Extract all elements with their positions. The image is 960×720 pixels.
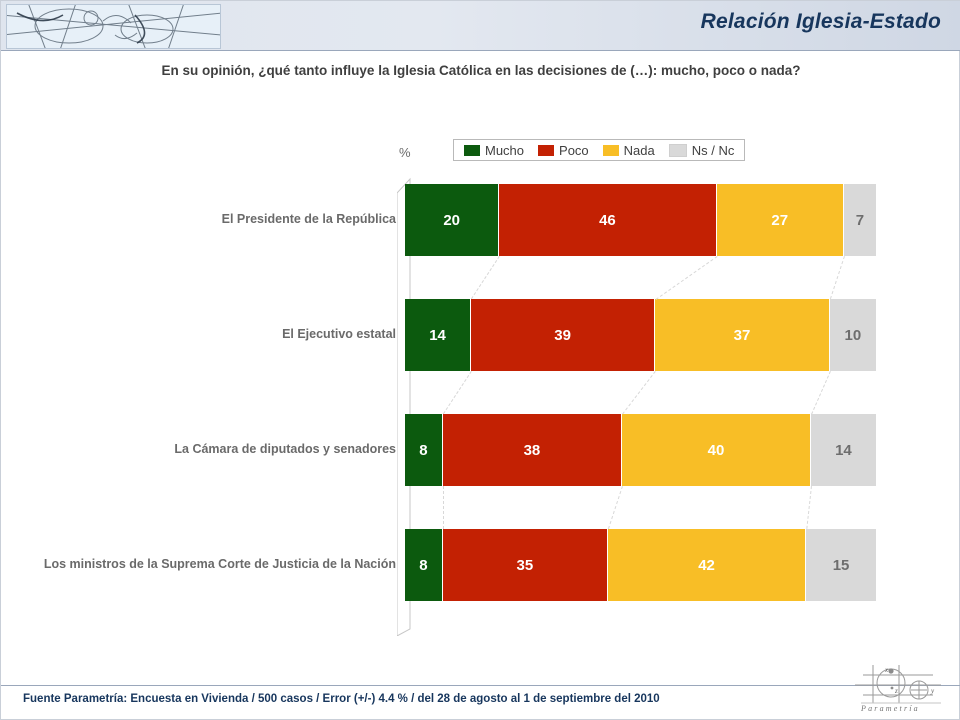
- category-label: El Presidente de la República: [222, 212, 396, 226]
- legend-swatch-icon: [538, 145, 554, 156]
- footer-divider: [1, 685, 960, 686]
- slide: Relación Iglesia-Estado En su opinión, ¿…: [0, 0, 960, 720]
- bar-segment-poco[interactable]: 39: [471, 299, 655, 371]
- legend-label: Mucho: [485, 143, 524, 158]
- legend-label: Ns / Nc: [692, 143, 735, 158]
- plot-area: 20462771439371083840148354215: [405, 176, 877, 626]
- bar-row: 8384014: [405, 414, 877, 486]
- svg-text:y: y: [930, 687, 935, 695]
- bar-row: 2046277: [405, 184, 877, 256]
- source-note: Fuente Parametría: Encuesta en Vivienda …: [23, 693, 660, 705]
- bar-segment-nada[interactable]: 42: [608, 529, 806, 601]
- category-label: La Cámara de diputados y senadores: [174, 442, 396, 456]
- chart-legend: MuchoPocoNadaNs / Nc: [453, 139, 745, 161]
- legend-label: Nada: [624, 143, 655, 158]
- bar-segment-mucho[interactable]: 20: [405, 184, 499, 256]
- bar-segment-mucho[interactable]: 14: [405, 299, 471, 371]
- category-label: El Ejecutivo estatal: [282, 327, 396, 341]
- legend-swatch-icon: [464, 145, 480, 156]
- bar-segment-poco[interactable]: 38: [443, 414, 622, 486]
- svg-text:x: x: [884, 666, 889, 674]
- bar-row: 8354215: [405, 529, 877, 601]
- category-label: Los ministros de la Suprema Corte de Jus…: [44, 557, 396, 571]
- page-title: Relación Iglesia-Estado: [701, 10, 941, 34]
- bar-segment-nada[interactable]: 40: [622, 414, 811, 486]
- legend-label: Poco: [559, 143, 589, 158]
- header-bar: Relación Iglesia-Estado: [1, 1, 960, 51]
- logo-wordmark: Parametría: [861, 704, 920, 713]
- bar-segment-mucho[interactable]: 8: [405, 529, 443, 601]
- legend-item-mucho[interactable]: Mucho: [464, 143, 524, 158]
- bar-segment-ns-nc[interactable]: 7: [844, 184, 877, 256]
- question-text: En su opinión, ¿qué tanto influye la Igl…: [1, 63, 960, 78]
- svg-text:z: z: [894, 687, 898, 695]
- technical-drawing-thumbnail-icon: [6, 4, 221, 49]
- bar-row: 14393710: [405, 299, 877, 371]
- axis-unit-label: %: [399, 145, 411, 160]
- legend-item-nada[interactable]: Nada: [603, 143, 655, 158]
- legend-item-ns-nc[interactable]: Ns / Nc: [669, 143, 735, 158]
- parametria-logo: x y z Parametría: [855, 663, 947, 715]
- legend-swatch-icon: [669, 144, 687, 157]
- bar-segment-ns-nc[interactable]: 14: [811, 414, 877, 486]
- bar-segment-mucho[interactable]: 8: [405, 414, 443, 486]
- legend-swatch-icon: [603, 145, 619, 156]
- stacked-bar-chart: % MuchoPocoNadaNs / Nc 20462771439371083…: [1, 131, 960, 641]
- bar-segment-poco[interactable]: 46: [499, 184, 716, 256]
- series-connector-line: [443, 486, 444, 529]
- bar-segment-nada[interactable]: 27: [717, 184, 844, 256]
- bar-segment-nada[interactable]: 37: [655, 299, 830, 371]
- legend-item-poco[interactable]: Poco: [538, 143, 589, 158]
- bar-segment-ns-nc[interactable]: 10: [830, 299, 877, 371]
- bar-segment-ns-nc[interactable]: 15: [806, 529, 877, 601]
- bar-segment-poco[interactable]: 35: [443, 529, 608, 601]
